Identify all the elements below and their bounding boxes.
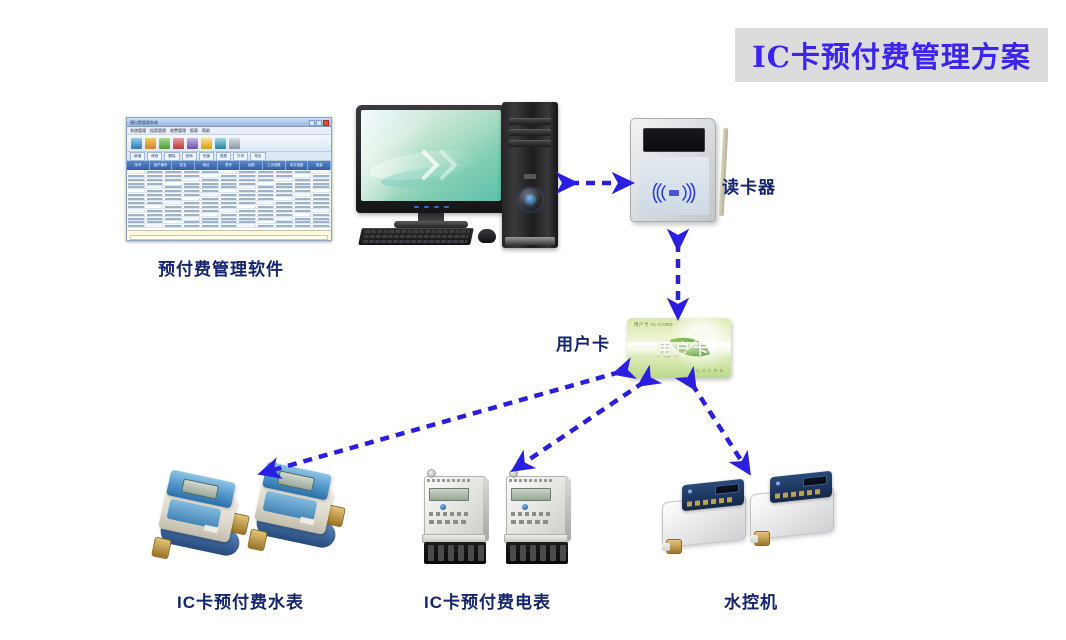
controller-indicator-led (688, 489, 692, 493)
table-cell (202, 171, 219, 173)
keyboard-row-2 (364, 235, 469, 238)
table-cell (258, 194, 275, 196)
table-cell (258, 186, 275, 188)
pc-tower-icon (502, 102, 558, 248)
tab-1[interactable]: 修改 (147, 152, 162, 161)
water-meter-icon (248, 466, 344, 558)
tab-3[interactable]: 查询 (182, 152, 197, 161)
table-cell (202, 218, 219, 220)
table-cell (202, 221, 219, 223)
monitor-icon (356, 105, 506, 213)
mouse-icon[interactable] (478, 229, 496, 243)
table-cell (128, 225, 145, 227)
toolbar-settings-icon[interactable] (229, 138, 240, 149)
tab-2[interactable]: 删除 (164, 152, 179, 161)
table-cell (258, 202, 275, 204)
table-cell (239, 194, 256, 196)
table-cell (276, 194, 293, 196)
table-cell (202, 225, 219, 227)
table-cell (295, 225, 312, 227)
table-cell (184, 221, 201, 223)
table-cell (295, 221, 312, 223)
table-cell (239, 183, 256, 185)
electric-meter-terminal-block (506, 542, 568, 564)
table-cell (147, 206, 164, 208)
table-cell (221, 202, 238, 204)
table-cell (184, 183, 201, 185)
software-window-screenshot: 预付费管理系统 系统管理 档案管理 收费管理 报表 帮助 新增 (126, 117, 332, 241)
monitor-button-1[interactable] (414, 206, 419, 208)
tower-base (505, 237, 555, 245)
table-cell (202, 206, 219, 208)
table-cell (313, 221, 330, 223)
monitor-stand-base (394, 221, 468, 228)
table-cell (276, 210, 293, 212)
menu-item-3[interactable]: 报表 (190, 127, 198, 135)
column-header-2: 姓名 (172, 161, 195, 170)
toolbar-user-icon[interactable] (215, 138, 226, 149)
electric-meter-markings-1 (511, 512, 553, 516)
table-cell (239, 171, 256, 173)
table-cell (202, 186, 219, 188)
table-cell (313, 190, 330, 192)
electric-meter-icon (418, 472, 496, 568)
electric-meter-markings-1 (429, 512, 471, 516)
table-cell (258, 179, 275, 181)
table-cell (276, 179, 293, 181)
table-cell (276, 171, 293, 173)
table-cell (221, 183, 238, 185)
close-icon[interactable] (323, 120, 329, 126)
table-cell (313, 210, 330, 212)
table-cell (221, 221, 238, 223)
table-cell (147, 210, 164, 212)
table-cell (295, 171, 312, 173)
controller-display (715, 483, 739, 495)
table-cell (239, 198, 256, 200)
software-titlebar: 预付费管理系统 (127, 118, 331, 127)
software-tab-bar[interactable]: 新增 修改 删除 查询 充值 退费 打印 导出 (127, 152, 331, 161)
table-cell (239, 179, 256, 181)
table-cell (295, 218, 312, 220)
table-cell (128, 194, 145, 196)
table-cell (295, 210, 312, 212)
table-cell (165, 194, 182, 196)
reader-display-screen (643, 128, 705, 152)
table-cell (258, 183, 275, 185)
table-cell (239, 225, 256, 227)
table-cell (239, 202, 256, 204)
table-cell (239, 214, 256, 216)
table-cell (165, 218, 182, 220)
table-cell (221, 179, 238, 181)
menu-item-1[interactable]: 档案管理 (150, 127, 166, 135)
column-header-0: 序号 (127, 161, 150, 170)
electric-meter-shell (424, 476, 486, 542)
table-cell (313, 214, 330, 216)
table-cell (276, 206, 293, 208)
keyboard-row-3 (363, 240, 468, 243)
table-cell (239, 190, 256, 192)
electric-meter-mount-hole (509, 469, 518, 478)
controller-keypad[interactable] (775, 489, 823, 499)
table-cell (221, 214, 238, 216)
table-cell (276, 198, 293, 200)
column-header-1: 用户编号 (150, 161, 173, 170)
table-cell (184, 186, 201, 188)
table-cell (128, 186, 145, 188)
table-cell (239, 221, 256, 223)
table-cell (313, 179, 330, 181)
monitor-screen (361, 110, 501, 201)
table-cell (202, 214, 219, 216)
table-cell (221, 175, 238, 177)
table-cell (295, 202, 312, 204)
table-cell (276, 186, 293, 188)
table-cell (184, 214, 201, 216)
electric-meter-shell (506, 476, 568, 542)
electric-meter-button[interactable] (522, 504, 528, 510)
table-cell (295, 179, 312, 181)
power-button-icon[interactable] (519, 188, 542, 211)
table-cell (128, 190, 145, 192)
table-cell (165, 175, 182, 177)
tab-5[interactable]: 退费 (216, 152, 231, 161)
water-meter-inlet (151, 536, 172, 559)
electric-meter-mount-hole (427, 469, 436, 478)
software-menubar[interactable]: 系统管理 档案管理 收费管理 报表 帮助 (127, 127, 331, 135)
table-cell (239, 218, 256, 220)
table-cell (202, 194, 219, 196)
table-cell (147, 198, 164, 200)
drive-bay-1 (509, 118, 551, 125)
electric-meter-markings-2 (429, 520, 469, 524)
column-header-7: 本次读数 (286, 161, 309, 170)
menu-item-4[interactable]: 帮助 (202, 127, 210, 135)
table-cell (165, 225, 182, 227)
table-cell (165, 171, 182, 173)
table-cell (202, 175, 219, 177)
table-cell (147, 190, 164, 192)
minimize-icon[interactable] (309, 120, 315, 126)
table-cell (313, 171, 330, 173)
table-cell (128, 202, 145, 204)
table-cell (128, 218, 145, 220)
table-cell (239, 206, 256, 208)
table-cell (128, 175, 145, 177)
table-cell (313, 198, 330, 200)
table-cell (165, 202, 182, 204)
controller-outlet (666, 539, 682, 554)
electric-meter-terminal-block (424, 542, 486, 564)
table-cell (221, 218, 238, 220)
tab-7[interactable]: 导出 (250, 152, 265, 161)
table-cell (165, 214, 182, 216)
table-cell (184, 225, 201, 227)
monitor-power-button[interactable] (444, 206, 449, 208)
table-cell (276, 221, 293, 223)
label-water-meter: IC卡预付费水表 (177, 588, 304, 613)
table-cell (313, 186, 330, 188)
table-cell (313, 218, 330, 220)
table-cell (184, 202, 201, 204)
table-cell (258, 221, 275, 223)
label-user-card: 用户卡 (556, 330, 610, 355)
table-cell (295, 186, 312, 188)
tower-logo (524, 174, 536, 179)
table-cell (202, 183, 219, 185)
table-column-header: 序号 用户编号 姓名 地址 表号 余额 上次读数 本次读数 用量 (127, 161, 331, 170)
controller-display (803, 475, 827, 487)
table-cell (184, 198, 201, 200)
table-cell (221, 186, 238, 188)
table-cell (165, 210, 182, 212)
table-cell (147, 218, 164, 220)
menu-item-0[interactable]: 系统管理 (130, 127, 146, 135)
status-input[interactable] (130, 235, 328, 240)
rfid-card-reader-icon (630, 118, 722, 230)
table-cell (128, 171, 145, 173)
controller-indicator-led (776, 481, 780, 485)
table-cell (221, 225, 238, 227)
table-cell (239, 210, 256, 212)
page-title-band: IC卡预付费管理方案 (735, 28, 1048, 82)
toolbar-save-icon[interactable] (159, 138, 170, 149)
page-title: IC卡预付费管理方案 (752, 34, 1031, 76)
table-cell (128, 214, 145, 216)
tab-0[interactable]: 新增 (130, 152, 145, 161)
table-cell (184, 218, 201, 220)
table-cell (165, 186, 182, 188)
tab-4[interactable]: 充值 (199, 152, 214, 161)
table-cell (258, 210, 275, 212)
table-cell (147, 179, 164, 181)
electric-meter-brand-text (427, 479, 471, 482)
table-cell (184, 179, 201, 181)
table-cell (295, 194, 312, 196)
toolbar-new-icon[interactable] (131, 138, 142, 149)
card-bottom-text: I C C A R D (692, 368, 724, 373)
table-cell (184, 190, 201, 192)
rfid-wave-icon (645, 183, 703, 203)
table-cell (295, 175, 312, 177)
table-cell (239, 186, 256, 188)
table-cell (258, 206, 275, 208)
software-status-field[interactable] (127, 230, 331, 241)
table-cell (276, 225, 293, 227)
table-cell (221, 190, 238, 192)
table-cell (184, 175, 201, 177)
table-cell (258, 225, 275, 227)
table-cell (295, 190, 312, 192)
desktop-computer-icon (356, 100, 576, 248)
table-cell (184, 171, 201, 173)
table-cell (147, 186, 164, 188)
monitor-bezel-buttons[interactable] (356, 201, 506, 213)
reader-body (630, 118, 716, 222)
table-cell (276, 202, 293, 204)
table-cell (165, 206, 182, 208)
reader-touch-panel (639, 157, 709, 215)
table-cell (276, 190, 293, 192)
table-cell (202, 210, 219, 212)
software-title-caption: 预付费管理系统 (127, 118, 158, 127)
table-cell (313, 183, 330, 185)
controller-outlet (754, 531, 770, 546)
electric-meter-lcd (511, 488, 551, 501)
table-cell (184, 194, 201, 196)
table-cell (147, 221, 164, 223)
controller-keypad[interactable] (687, 497, 735, 507)
table-cell (258, 171, 275, 173)
electric-meter-button[interactable] (440, 504, 446, 510)
software-toolbar[interactable] (127, 135, 331, 152)
card-top-text: 用户卡 IC·CARD (634, 322, 673, 328)
table-cell (165, 183, 182, 185)
table-cell (313, 194, 330, 196)
table-cell (202, 198, 219, 200)
table-cell (202, 190, 219, 192)
electric-meter-brand-text (509, 479, 553, 482)
monitor-button-3[interactable] (434, 206, 439, 208)
table-cell (128, 198, 145, 200)
software-data-grid[interactable] (127, 170, 331, 230)
tab-6[interactable]: 打印 (233, 152, 248, 161)
table-cell (221, 194, 238, 196)
column-header-4: 表号 (218, 161, 241, 170)
table-cell (147, 225, 164, 227)
table-cell (165, 198, 182, 200)
column-header-6: 上次读数 (263, 161, 286, 170)
table-cell (202, 202, 219, 204)
label-water-controller: 水控机 (724, 588, 778, 613)
table-cell (128, 183, 145, 185)
water-meter-icon (152, 474, 248, 566)
table-cell (295, 206, 312, 208)
table-cell (147, 214, 164, 216)
toolbar-open-icon[interactable] (145, 138, 156, 149)
table-cell (128, 210, 145, 212)
window-controls[interactable] (309, 120, 329, 126)
menu-item-2[interactable]: 收费管理 (170, 127, 186, 135)
keyboard-icon[interactable] (358, 228, 474, 245)
toolbar-search-icon[interactable] (201, 138, 212, 149)
table-cell (165, 179, 182, 181)
water-controller-icon (660, 478, 752, 556)
table-cell (221, 198, 238, 200)
toolbar-delete-icon[interactable] (173, 138, 184, 149)
arrow-card-water-meter (266, 372, 620, 472)
drive-bay-2 (509, 129, 551, 136)
table-cell (147, 183, 164, 185)
table-cell (221, 171, 238, 173)
table-cell (276, 218, 293, 220)
monitor-button-2[interactable] (424, 206, 429, 208)
table-cell (128, 221, 145, 223)
card-center-text: 用户卡 (657, 338, 711, 359)
table-cell (258, 218, 275, 220)
label-software: 预付费管理软件 (158, 255, 284, 280)
table-cell (221, 206, 238, 208)
electric-meter-markings-2 (511, 520, 551, 524)
column-header-5: 余额 (240, 161, 263, 170)
table-cell (313, 175, 330, 177)
table-cell (184, 206, 201, 208)
label-power-meter: IC卡预付费电表 (424, 588, 551, 613)
toolbar-print-icon[interactable] (187, 138, 198, 149)
electric-meter-lcd (429, 488, 469, 501)
table-cell (258, 198, 275, 200)
table-cell (276, 214, 293, 216)
table-cell (313, 206, 330, 208)
keyboard-row-1 (365, 230, 470, 233)
table-cell (295, 183, 312, 185)
table-cell (184, 210, 201, 212)
drive-bay-3 (509, 140, 551, 147)
label-card-reader: 读卡器 (722, 173, 776, 198)
table-cell (313, 225, 330, 227)
table-cell (276, 183, 293, 185)
table-cell (239, 175, 256, 177)
table-cell (147, 171, 164, 173)
table-cell (313, 202, 330, 204)
table-row[interactable] (127, 224, 331, 228)
maximize-icon[interactable] (316, 120, 322, 126)
table-cell (295, 198, 312, 200)
table-cell (258, 175, 275, 177)
table-cell (128, 179, 145, 181)
column-header-3: 地址 (195, 161, 218, 170)
reader-card-slot (719, 128, 729, 216)
table-cell (128, 206, 145, 208)
column-header-8: 用量 (308, 161, 331, 170)
electric-meter-icon (500, 472, 578, 568)
table-cell (147, 194, 164, 196)
table-cell (221, 210, 238, 212)
table-cell (147, 202, 164, 204)
table-cell (165, 190, 182, 192)
table-cell (258, 190, 275, 192)
table-cell (165, 221, 182, 223)
water-controller-icon (748, 470, 840, 548)
diagram-canvas: IC卡预付费管理方案 预付费管理系统 系统管理 档案管理 收费管理 报表 帮助 (0, 0, 1066, 640)
water-meter-inlet (247, 528, 268, 551)
table-cell (147, 175, 164, 177)
ic-user-card-icon: 用户卡 IC·CARD 用户卡 I C C A R D (627, 318, 731, 378)
table-cell (295, 214, 312, 216)
table-cell (276, 175, 293, 177)
table-cell (258, 214, 275, 216)
arrow-card-water-controller (692, 384, 746, 468)
table-cell (202, 179, 219, 181)
arrow-card-power-meter (518, 382, 644, 467)
